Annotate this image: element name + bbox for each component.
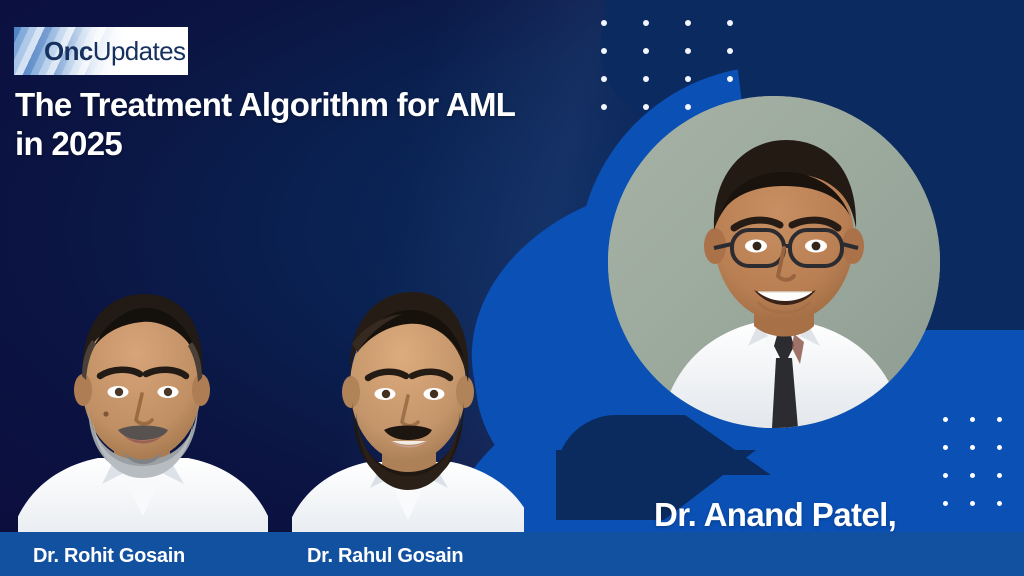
dot <box>685 48 691 54</box>
dot <box>601 48 607 54</box>
dot <box>997 445 1002 450</box>
dot <box>970 473 975 478</box>
page-title-line1: The Treatment Algorithm for AML <box>15 86 515 123</box>
host-name-rohit-gosain: Dr. Rohit Gosain <box>33 545 185 568</box>
dot <box>685 76 691 82</box>
dot <box>643 48 649 54</box>
dot <box>997 473 1002 478</box>
dot-grid-bottom-icon <box>943 417 1024 529</box>
logo-wordmark: OncUpdates <box>44 36 185 67</box>
guest-avatar <box>608 96 940 428</box>
dot <box>970 501 975 506</box>
dot <box>727 76 733 82</box>
host-name-rahul-gosain: Dr. Rahul Gosain <box>307 545 463 568</box>
dot <box>643 20 649 26</box>
dot <box>943 501 948 506</box>
host-photo-rahul-gosain <box>292 280 524 548</box>
dot <box>601 76 607 82</box>
host-photo-rohit-gosain <box>18 280 268 548</box>
dot <box>727 20 733 26</box>
dot <box>685 20 691 26</box>
page-title: The Treatment Algorithm for AML in 2025 <box>15 86 595 164</box>
oncupdates-logo: OncUpdates <box>14 27 188 75</box>
dot <box>970 445 975 450</box>
logo-wordmark-bold: Onc <box>44 36 93 66</box>
dot <box>997 417 1002 422</box>
page-title-line2: in 2025 <box>15 125 122 162</box>
dot <box>601 104 607 110</box>
dot <box>601 20 607 26</box>
dot <box>943 417 948 422</box>
logo-wordmark-regular: Updates <box>93 36 186 66</box>
dot <box>727 48 733 54</box>
dot <box>685 104 691 110</box>
dot <box>943 473 948 478</box>
video-thumbnail-slide: OncUpdates The Treatment Algorithm for A… <box>0 0 1024 576</box>
dot <box>997 501 1002 506</box>
dot <box>943 445 948 450</box>
dot <box>643 76 649 82</box>
dot <box>643 104 649 110</box>
guest-name: Dr. Anand Patel, <box>654 496 896 534</box>
dot <box>970 417 975 422</box>
